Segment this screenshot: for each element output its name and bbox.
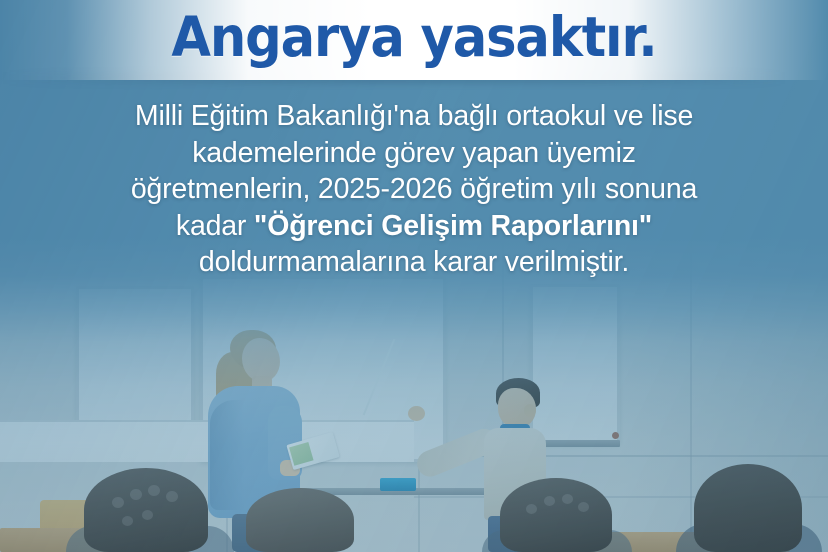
body-line-5: doldurmamalarına karar verilmiştir. bbox=[64, 244, 764, 281]
poster-title: Angarya yasaktır. bbox=[29, 0, 799, 78]
body-line-1: Milli Eğitim Bakanlığı'na bağlı ortaokul… bbox=[64, 98, 764, 135]
body-line-3: öğretmenlerin, 2025-2026 öğretim yılı so… bbox=[64, 171, 764, 208]
body-line-4: kadar "Öğrenci Gelişim Raporlarını" bbox=[64, 208, 764, 245]
emphasis-quote: "Öğrenci Gelişim Raporlarını" bbox=[254, 210, 652, 242]
poster: Angarya yasaktır. Milli Eğitim Bakanlığı… bbox=[0, 0, 828, 552]
body-line-2: kademelerinde görev yapan üyemiz bbox=[64, 135, 764, 172]
poster-body-text: Milli Eğitim Bakanlığı'na bağlı ortaokul… bbox=[64, 98, 764, 281]
body-line-4-prefix: kadar bbox=[176, 210, 254, 242]
